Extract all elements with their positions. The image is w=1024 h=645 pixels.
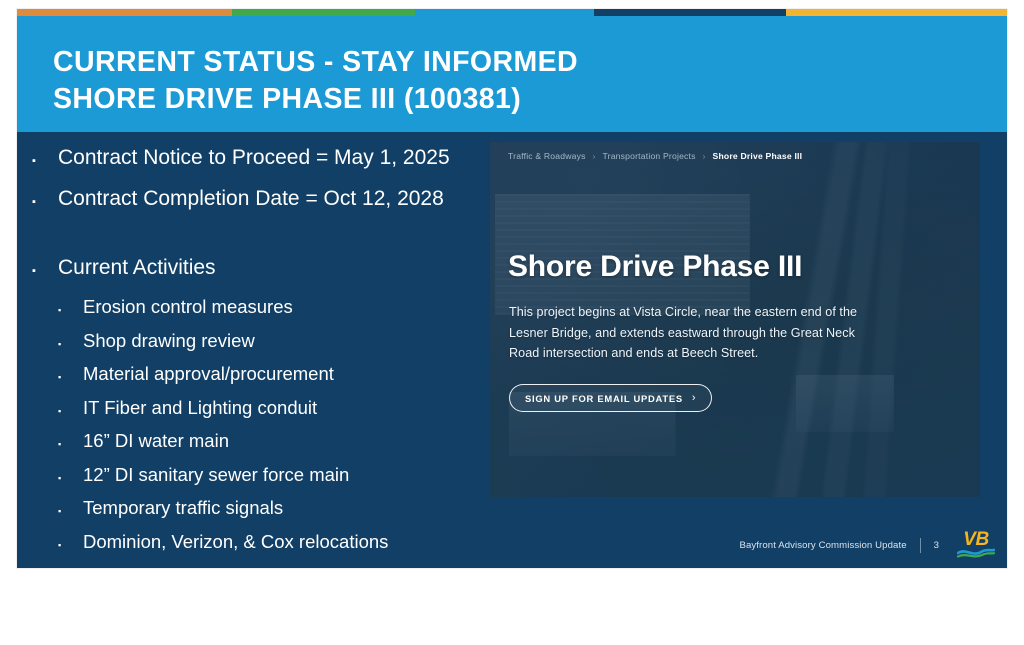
breadcrumb-separator-icon: › (703, 152, 706, 161)
accent-segment-navy (594, 9, 786, 16)
bullet-marker-icon: ▪ (58, 497, 83, 527)
bullet-marker-icon: ▪ (32, 187, 58, 217)
website-screenshot-panel: Traffic & Roadways › Transportation Proj… (490, 142, 980, 497)
list-item-current-activities: ▪ Current Activities (32, 253, 492, 286)
page-title-line-1: CURRENT STATUS - STAY INFORMED (53, 44, 1007, 81)
bullet-list: ▪ Contract Notice to Proceed = May 1, 20… (32, 143, 492, 560)
page-title-line-2: SHORE DRIVE PHASE III (100381) (53, 81, 1007, 118)
list-item-label: Erosion control measures (83, 292, 293, 322)
list-item-label: Contract Notice to Proceed = May 1, 2025 (58, 143, 450, 173)
sign-up-email-updates-button[interactable]: SIGN UP FOR EMAIL UPDATES › (509, 384, 712, 412)
breadcrumb-item-shore-drive-phase-iii: Shore Drive Phase III (713, 151, 803, 161)
footer-title: Bayfront Advisory Commission Update (739, 540, 919, 551)
list-item: ▪ Contract Completion Date = Oct 12, 202… (32, 184, 492, 217)
breadcrumb: Traffic & Roadways › Transportation Proj… (508, 151, 802, 161)
panel-description: This project begins at Vista Circle, nea… (509, 302, 877, 364)
sign-up-button-label: SIGN UP FOR EMAIL UPDATES (525, 393, 683, 404)
slide-footer: Bayfront Advisory Commission Update 3 VB (739, 530, 997, 560)
accent-segment-light-blue (415, 9, 594, 16)
project-url-caption: https://pw.virginiabeach.gov/roads/trans… (450, 629, 954, 645)
list-item: ▪ IT Fiber and Lighting conduit (58, 393, 492, 427)
list-item-label: Shop drawing review (83, 326, 255, 356)
bullet-marker-icon: ▪ (58, 430, 83, 460)
bullet-marker-icon: ▪ (58, 330, 83, 360)
list-item-label: Contract Completion Date = Oct 12, 2028 (58, 184, 444, 214)
breadcrumb-item-transportation-projects[interactable]: Transportation Projects (603, 151, 696, 161)
list-item-label: Current Activities (58, 253, 216, 283)
list-spacer (32, 225, 492, 253)
list-item: ▪ 12” DI sanitary sewer force main (58, 460, 492, 494)
list-item: ▪ Temporary traffic signals (58, 493, 492, 527)
bullet-marker-icon: ▪ (32, 146, 58, 176)
chevron-right-icon: › (692, 392, 696, 404)
bullet-marker-icon: ▪ (58, 464, 83, 494)
accent-segment-green (232, 9, 415, 16)
bullet-marker-icon: ▪ (58, 296, 83, 326)
breadcrumb-item-traffic-roadways[interactable]: Traffic & Roadways (508, 151, 586, 161)
list-item-label: 12” DI sanitary sewer force main (83, 460, 349, 490)
accent-segment-gold (786, 9, 1007, 16)
bullet-marker-icon: ▪ (58, 397, 83, 427)
wave-icon (957, 547, 995, 559)
list-item-label: Dominion, Verizon, & Cox relocations (83, 527, 388, 557)
slide: CURRENT STATUS - STAY INFORMED SHORE DRI… (17, 9, 1007, 568)
list-item-label: 16” DI water main (83, 426, 229, 456)
list-item: ▪ Dominion, Verizon, & Cox relocations (58, 527, 492, 561)
list-item-label: IT Fiber and Lighting conduit (83, 393, 317, 423)
list-item: ▪ 16” DI water main (58, 426, 492, 460)
breadcrumb-separator-icon: › (593, 152, 596, 161)
page-number: 3 (921, 540, 955, 551)
list-item-label: Material approval/procurement (83, 359, 334, 389)
list-item: ▪ Erosion control measures (58, 292, 492, 326)
panel-headline: Shore Drive Phase III (508, 250, 802, 284)
bullet-marker-icon: ▪ (58, 531, 83, 561)
list-item: ▪ Shop drawing review (58, 326, 492, 360)
vb-logo: VB (955, 530, 997, 560)
header-band: CURRENT STATUS - STAY INFORMED SHORE DRI… (17, 16, 1007, 132)
bullet-marker-icon: ▪ (32, 256, 58, 286)
slide-body: ▪ Contract Notice to Proceed = May 1, 20… (17, 132, 1007, 568)
list-item: ▪ Material approval/procurement (58, 359, 492, 393)
list-item: ▪ Contract Notice to Proceed = May 1, 20… (32, 143, 492, 176)
top-accent-strip (17, 9, 1007, 16)
accent-segment-orange (17, 9, 232, 16)
list-item-label: Temporary traffic signals (83, 493, 283, 523)
bullet-marker-icon: ▪ (58, 363, 83, 393)
